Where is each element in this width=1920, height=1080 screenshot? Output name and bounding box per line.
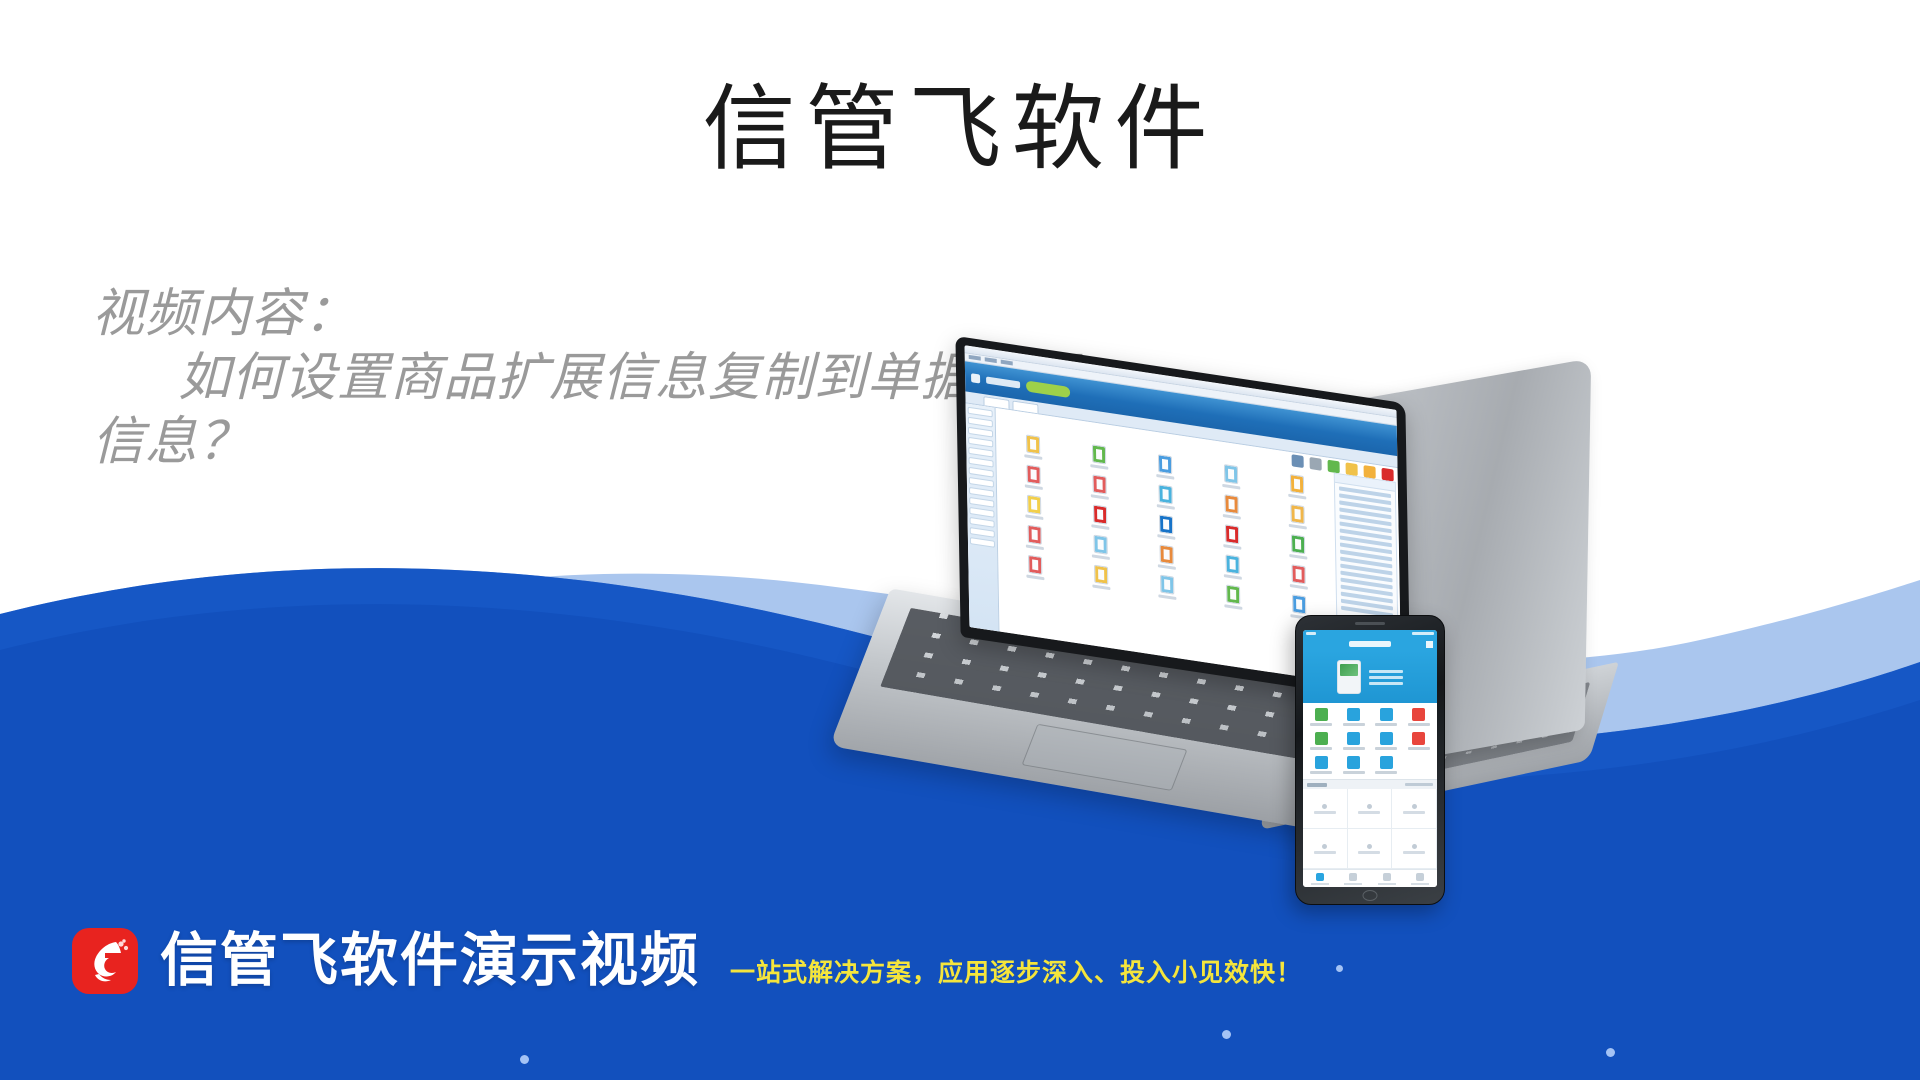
phone-section-header — [1303, 779, 1437, 789]
module-icon-label — [1091, 524, 1109, 530]
module-icon[interactable] — [1134, 451, 1196, 483]
module-icon-label — [1026, 544, 1044, 550]
phone-module-icon[interactable] — [1404, 708, 1435, 726]
module-icon-label — [1223, 544, 1241, 550]
module-icon[interactable] — [1266, 470, 1328, 502]
toolbar-button[interactable] — [1292, 454, 1304, 468]
module-icon-glyph — [1092, 444, 1106, 464]
phone-module-icon-glyph — [1412, 732, 1425, 745]
module-icon-glyph — [1226, 584, 1240, 604]
phone-module-icon-glyph — [1347, 756, 1360, 769]
module-icon-glyph — [1291, 534, 1305, 554]
module-icon-glyph — [1290, 474, 1304, 494]
stat-cell[interactable] — [1303, 829, 1348, 869]
section-title — [1307, 783, 1327, 787]
module-icon[interactable] — [1070, 561, 1132, 593]
sidebar-item[interactable] — [970, 517, 995, 528]
phone-module-icon-label — [1310, 771, 1332, 774]
module-icon[interactable] — [1266, 501, 1328, 533]
module-icon[interactable] — [1201, 551, 1263, 583]
module-icon-glyph — [1290, 504, 1304, 524]
module-icon-label — [1092, 554, 1110, 560]
module-icon-label — [1025, 514, 1043, 520]
phone-hero-banner — [1303, 651, 1437, 703]
module-icon[interactable] — [1068, 471, 1130, 503]
module-icon-glyph — [1026, 434, 1040, 454]
phone-module-icon-label — [1408, 723, 1430, 726]
presentation-slide: 信管飞软件 视频内容： 如何设置商品扩展信息复制到单据扩展 信息？ — [0, 0, 1920, 1080]
module-icon[interactable] — [1267, 561, 1329, 593]
tab-reports[interactable] — [1370, 870, 1404, 887]
sidebar-item[interactable] — [969, 477, 994, 488]
phone-stats-grid[interactable] — [1303, 789, 1437, 869]
sidebar-item[interactable] — [968, 447, 993, 458]
phone-module-icon-glyph — [1380, 756, 1393, 769]
module-icon-label — [1224, 574, 1242, 580]
phone-module-icon-label — [1375, 771, 1397, 774]
module-icon[interactable] — [1134, 481, 1196, 513]
device-illustration-icon — [1337, 660, 1361, 694]
decor-dot — [1606, 1048, 1615, 1057]
module-icon-glyph — [1028, 555, 1042, 575]
phone-module-icon-label — [1375, 723, 1397, 726]
phone-module-icon-label — [1343, 747, 1365, 750]
decor-dot — [1222, 1030, 1231, 1039]
phone-module-icon-label — [1310, 723, 1332, 726]
phone-module-icon[interactable] — [1306, 708, 1337, 726]
module-icon-label — [1223, 514, 1241, 520]
module-icon-label — [1289, 554, 1307, 560]
tab-home[interactable] — [1303, 870, 1337, 887]
sidebar-item[interactable] — [968, 427, 993, 438]
app-status-pill — [1026, 380, 1070, 398]
module-icon[interactable] — [1004, 521, 1066, 553]
brand-tagline: 一站式解决方案，应用逐步深入、投入小见效快！ — [730, 958, 1302, 994]
phone-app-navbar — [1303, 637, 1437, 651]
module-icon[interactable] — [1202, 581, 1264, 613]
sidebar-item[interactable] — [969, 507, 994, 518]
phone-statusbar — [1303, 630, 1437, 637]
stat-cell[interactable] — [1303, 789, 1348, 829]
body-label: 视频内容： — [92, 282, 1102, 346]
sidebar-item[interactable] — [969, 467, 994, 478]
module-icon-glyph — [1160, 575, 1174, 595]
module-icon-label — [1222, 484, 1240, 490]
sidebar-item[interactable] — [968, 417, 993, 428]
phone-module-icon-glyph — [1315, 732, 1328, 745]
module-icon-label — [1157, 534, 1175, 540]
phone-module-icon-glyph — [1315, 756, 1328, 769]
phone-module-icon-label — [1375, 747, 1397, 750]
module-icon-glyph — [1291, 564, 1305, 584]
phone-home-button[interactable] — [1363, 890, 1378, 901]
phone-module-grid[interactable] — [1303, 703, 1437, 779]
module-icon[interactable] — [1201, 521, 1263, 553]
phone-module-icon-glyph — [1380, 708, 1393, 721]
phone-module-icon[interactable] — [1371, 756, 1402, 774]
module-icon-label — [1158, 564, 1176, 570]
sidebar-item[interactable] — [970, 527, 995, 538]
module-icon[interactable] — [1135, 511, 1197, 543]
module-icon-label — [1024, 454, 1042, 460]
menu-item[interactable] — [969, 355, 981, 361]
phone-module-icon-label — [1408, 771, 1430, 774]
phone-module-icon-label — [1343, 771, 1365, 774]
module-icon-glyph — [1094, 535, 1108, 555]
module-icon[interactable] — [1136, 571, 1198, 603]
module-icon[interactable] — [1070, 531, 1132, 563]
phone-module-icon[interactable] — [1306, 732, 1337, 750]
module-icon[interactable] — [1267, 531, 1329, 563]
phone-module-icon[interactable] — [1306, 756, 1337, 774]
module-icon[interactable] — [1135, 541, 1197, 573]
phone-module-icon[interactable] — [1371, 708, 1402, 726]
module-icon[interactable] — [1002, 431, 1064, 463]
module-icon[interactable] — [1200, 461, 1262, 493]
phone-speaker — [1355, 622, 1385, 625]
hero-caption — [1369, 670, 1403, 685]
module-icon-label — [1288, 494, 1306, 500]
phone-module-icon[interactable] — [1339, 708, 1370, 726]
sidebar-item[interactable] — [968, 457, 993, 468]
sidebar-item[interactable] — [970, 537, 995, 548]
stat-cell[interactable] — [1392, 789, 1437, 829]
module-icon-label — [1157, 504, 1175, 510]
tab-profile[interactable] — [1404, 870, 1438, 887]
module-icon-label — [1090, 464, 1108, 470]
stat-cell[interactable] — [1348, 829, 1393, 869]
module-icon[interactable] — [1002, 461, 1064, 493]
phone-module-icon-label — [1310, 747, 1332, 750]
brand-name: 信管飞软件演示视频 — [160, 930, 700, 992]
tab-documents[interactable] — [1337, 870, 1371, 887]
module-icon[interactable] — [1069, 501, 1131, 533]
module-icon[interactable] — [1003, 491, 1065, 523]
phone-module-icon-label — [1408, 747, 1430, 750]
module-icon-glyph — [1158, 484, 1172, 504]
module-icon-label — [1156, 474, 1174, 480]
module-icon[interactable] — [1200, 491, 1262, 523]
module-icon-glyph — [1292, 594, 1306, 614]
module-icon-label — [1026, 575, 1044, 581]
module-icon[interactable] — [1004, 551, 1066, 583]
phone-screen — [1303, 630, 1437, 887]
module-icon-label — [1290, 584, 1308, 590]
menu-item[interactable] — [1001, 360, 1013, 366]
module-icon-label — [1025, 484, 1043, 490]
phone-module-icon-glyph — [1412, 708, 1425, 721]
module-icon-glyph — [1093, 505, 1107, 525]
phone-module-icon[interactable] — [1339, 732, 1370, 750]
footer-branding: 信管飞软件演示视频 一站式解决方案，应用逐步深入、投入小见效快！ — [72, 928, 1302, 994]
module-icon-glyph — [1026, 465, 1040, 485]
module-icon-label — [1092, 584, 1110, 590]
stat-cell[interactable] — [1392, 829, 1437, 869]
phone-module-icon-glyph — [1380, 732, 1393, 745]
phone-module-icon[interactable] — [1404, 732, 1435, 750]
module-icon-glyph — [1028, 525, 1042, 545]
phone-module-icon-glyph — [1315, 708, 1328, 721]
slide-title: 信管飞软件 — [0, 78, 1920, 185]
module-icon-label — [1091, 494, 1109, 500]
phone-module-icon-label — [1343, 723, 1365, 726]
module-icon-glyph — [1159, 544, 1173, 564]
app-brand-text — [986, 376, 1020, 388]
status-icons — [1412, 632, 1434, 635]
module-icon-glyph — [1158, 454, 1172, 474]
sidebar-item[interactable] — [969, 497, 994, 508]
hamburger-icon[interactable] — [1426, 641, 1433, 648]
phone-module-icon-glyph — [1412, 756, 1425, 769]
phone-app-title — [1349, 641, 1391, 647]
section-filters[interactable] — [1405, 783, 1433, 786]
decor-dot — [520, 1055, 529, 1064]
module-icon-glyph — [1225, 554, 1239, 574]
phone-module-icon-glyph — [1347, 708, 1360, 721]
stat-cell[interactable] — [1348, 789, 1393, 829]
menu-item[interactable] — [985, 357, 997, 363]
phone-module-icon — [1404, 756, 1435, 774]
module-icon-label — [1158, 594, 1176, 600]
module-icon[interactable] — [1068, 441, 1130, 473]
sidebar-item[interactable] — [968, 437, 993, 448]
sidebar-item[interactable] — [968, 407, 993, 418]
module-icon-glyph — [1027, 495, 1041, 515]
smartphone — [1295, 615, 1445, 905]
phone-module-icon[interactable] — [1371, 732, 1402, 750]
device-composition — [880, 370, 1920, 1010]
module-icon-label — [1224, 604, 1242, 610]
module-icon-glyph — [1159, 514, 1173, 534]
bird-logo-icon — [72, 928, 138, 994]
app-sidebar[interactable] — [966, 403, 1000, 631]
app-logo-icon — [971, 373, 980, 383]
module-icon-glyph — [1092, 474, 1106, 494]
toolbar-button[interactable] — [1328, 460, 1340, 474]
clock-text — [1306, 632, 1316, 635]
phone-module-icon[interactable] — [1339, 756, 1370, 774]
module-icon-glyph — [1224, 494, 1238, 514]
module-icon-glyph — [1224, 464, 1238, 484]
toolbar-button[interactable] — [1310, 457, 1322, 471]
phone-tabbar[interactable] — [1303, 869, 1437, 887]
module-icon-glyph — [1225, 524, 1239, 544]
module-icon-glyph — [1094, 565, 1108, 585]
module-icon-label — [1289, 524, 1307, 530]
phone-module-icon-glyph — [1347, 732, 1360, 745]
sidebar-item[interactable] — [969, 487, 994, 498]
